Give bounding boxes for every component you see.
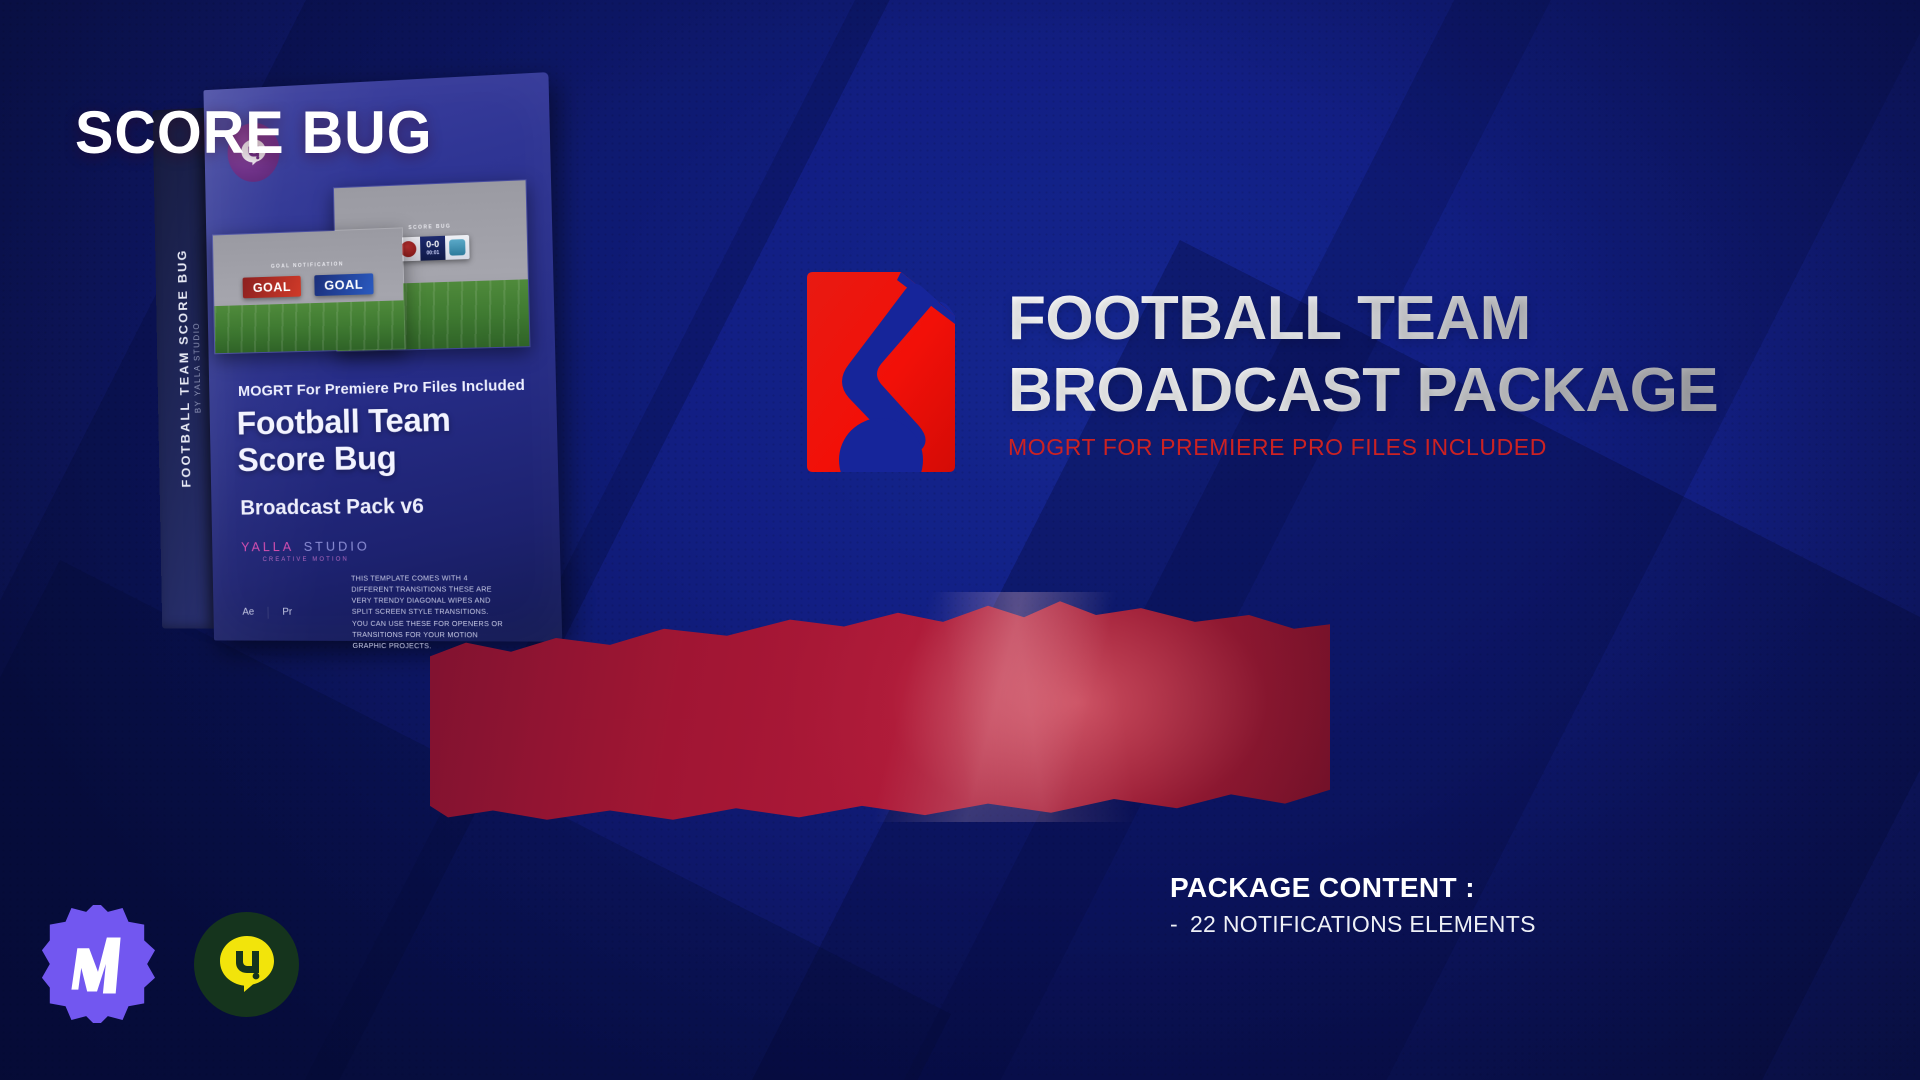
package-content-item: - 22 NOTIFICATIONS ELEMENTS: [1170, 911, 1536, 938]
match-clock: 00:01: [426, 251, 439, 256]
package-content-title: PACKAGE CONTENT :: [1170, 872, 1536, 904]
box-title-line1: Football Team: [236, 401, 451, 442]
box-title-line2: Score Bug: [237, 438, 452, 478]
headline-subline: MOGRT FOR PREMIERE PRO FILES INCLUDED: [1008, 434, 1718, 461]
box-subtitle: Broadcast Pack v6: [240, 495, 424, 521]
score-bug-graphic: 0-0 00:01: [396, 235, 469, 262]
spine-author: BY YALLA STUDIO: [192, 322, 202, 413]
box-supertitle: MOGRT For Premiere Pro Files Included: [238, 377, 525, 400]
box-app-badges: Ae Pr: [242, 607, 292, 619]
package-content-block: PACKAGE CONTENT : - 22 NOTIFICATIONS ELE…: [1170, 872, 1536, 938]
brand-secondary: STUDIO: [304, 538, 370, 553]
premiere-pro-label: Pr: [282, 607, 292, 619]
brand-primary: YALLA: [241, 539, 294, 554]
goal-chip-away: GOAL: [314, 273, 373, 296]
package-content-item-label: 22 NOTIFICATIONS ELEMENTS: [1190, 911, 1536, 938]
motion-array-badge[interactable]: [38, 905, 156, 1023]
divider: [268, 607, 269, 619]
preview-goal-notification: GOAL NOTIFICATION GOAL GOAL: [212, 227, 406, 354]
yalla-studio-badge[interactable]: [194, 912, 299, 1017]
score-value: 0-0: [426, 240, 439, 249]
box-title: Football Team Score Bug: [236, 401, 451, 479]
banner-paint-shape: [430, 592, 1330, 822]
goal-chip-home: GOAL: [243, 276, 301, 299]
partner-badges: [38, 905, 299, 1023]
score-bug-banner: [430, 592, 1330, 822]
spine-title: FOOTBALL TEAM SCORE BUG: [175, 248, 194, 487]
after-effects-label: Ae: [242, 607, 254, 619]
brand-tagline: CREATIVE MOTION: [263, 557, 349, 563]
away-crest-icon: [445, 235, 470, 260]
bullet-dash: -: [1170, 911, 1178, 938]
box-brand: YALLA STUDIO: [241, 538, 370, 554]
score-readout: 0-0 00:01: [420, 236, 446, 261]
background-stripe: [0, 0, 7, 1080]
headline-line1: FOOTBALL TEAM: [1008, 288, 1718, 350]
headline-block: FOOTBALL TEAM BROADCAST PACKAGE MOGRT FO…: [1008, 288, 1718, 461]
poster-canvas: FOOTBALL TEAM SCORE BUG BY YALLA STUDIO …: [0, 0, 1920, 1080]
headline-line2: BROADCAST PACKAGE: [1008, 360, 1718, 422]
banner-title: SCORE BUG: [75, 98, 432, 167]
football-team-k-logo-icon: [805, 272, 975, 472]
preview-pitch: [214, 300, 404, 353]
